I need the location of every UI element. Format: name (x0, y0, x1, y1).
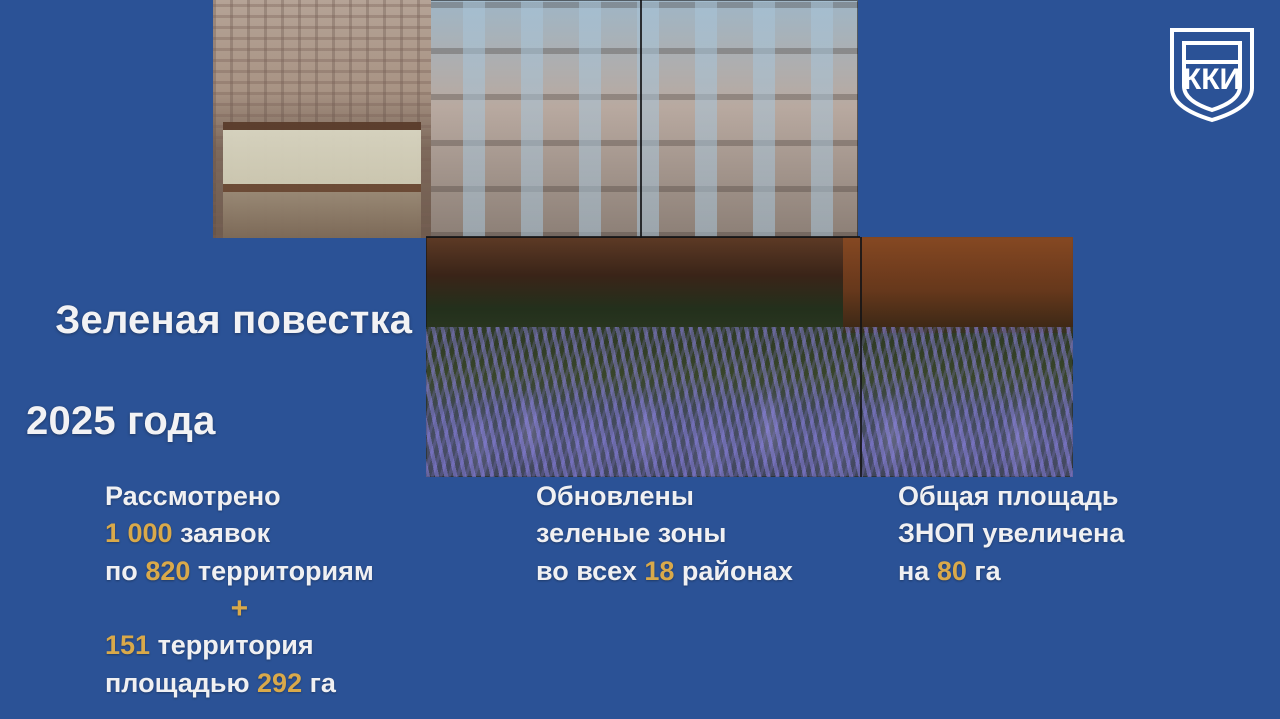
photo-bottom-caption: Цветущая лаванда у здания (0, 0, 1, 1)
stat-left-plus-sign: + (105, 590, 374, 628)
collage-divider-vertical-bottom (860, 237, 862, 477)
stat-right-line-1: Общая площадь (898, 478, 1124, 515)
stat-middle-line-1: Обновлены (536, 478, 793, 515)
stat-middle-prefix-districts: во всех (536, 556, 644, 586)
collage-divider-vertical-top (640, 0, 642, 238)
stat-left-unit-new-territory: территория (150, 630, 314, 660)
stat-middle-unit-districts: районах (674, 556, 792, 586)
stat-left-unit-applications: заявок (173, 518, 271, 548)
stat-left-value-new-territory: 151 (105, 630, 150, 660)
stat-left-value-territories: 820 (145, 556, 190, 586)
stat-middle-line-3: во всех 18 районах (536, 553, 793, 590)
stat-right-value-area: 80 (937, 556, 967, 586)
photo-top-caption: Жилой комплекс с кирпичным фасадом (0, 0, 1, 1)
slide-title-line-2: 2025 года (10, 396, 412, 446)
stat-block-green-zones: Обновлены зеленые зоны во всех 18 района… (536, 478, 793, 590)
stat-left-unit-territories: территориям (190, 556, 374, 586)
stat-left-value-area: 292 (257, 668, 302, 698)
stat-left-value-applications: 1 000 (105, 518, 173, 548)
photo-lavender-garden (426, 237, 1073, 477)
stat-right-prefix-area: на (898, 556, 937, 586)
collage-divider-horizontal (426, 236, 860, 238)
kki-shield-logo: ККИ (1168, 26, 1256, 124)
stat-block-znop-area: Общая площадь ЗНОП увеличена на 80 га (898, 478, 1124, 590)
stat-block-applications: Рассмотрено 1 000 заявок по 820 территор… (105, 478, 374, 702)
stat-left-line-5: площадью 292 га (105, 665, 374, 702)
stat-left-line-3: по 820 территориям (105, 553, 374, 590)
logo-text: ККИ (1183, 63, 1241, 96)
stat-left-label-reviewed: Рассмотрено (105, 481, 281, 511)
photo-residential-building (213, 0, 858, 238)
stat-left-line-1: Рассмотрено (105, 478, 374, 515)
stat-left-prefix-territories: по (105, 556, 145, 586)
stat-right-line-2: ЗНОП увеличена (898, 515, 1124, 552)
stat-right-unit-area: га (967, 556, 1001, 586)
presentation-slide: Жилой комплекс с кирпичным фасадом Цвету… (0, 0, 1280, 719)
stat-right-line-3: на 80 га (898, 553, 1124, 590)
stat-middle-value-districts: 18 (644, 556, 674, 586)
stat-middle-line-2: зеленые зоны (536, 515, 793, 552)
stat-left-prefix-area: площадью (105, 668, 257, 698)
slide-title-line-1: Зеленая повестка (55, 298, 412, 342)
stat-left-line-2: 1 000 заявок (105, 515, 374, 552)
stat-left-unit-area: га (302, 668, 336, 698)
stat-left-line-4: 151 территория (105, 627, 374, 664)
